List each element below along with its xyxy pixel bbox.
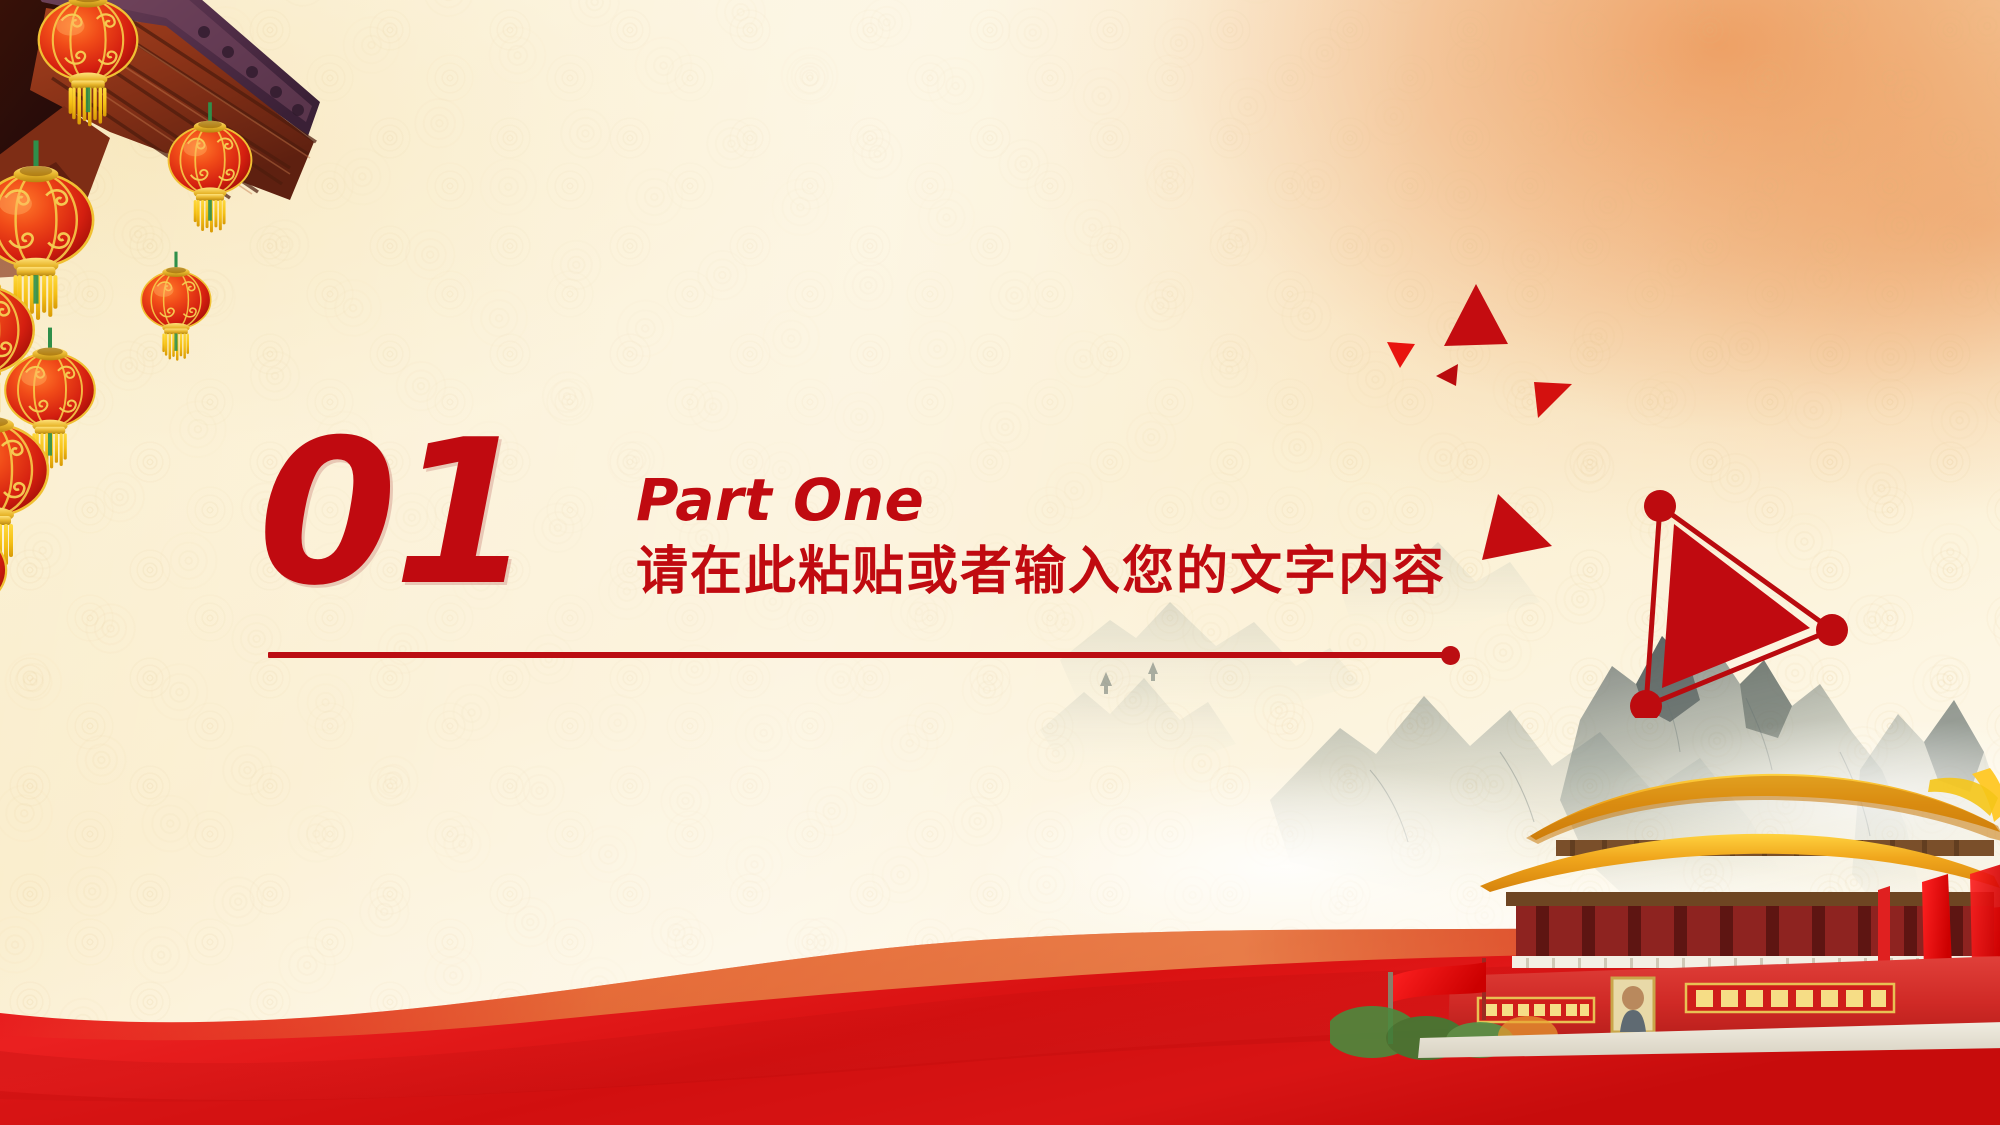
section-subtitle: 请在此粘贴或者输入您的文字内容	[636, 543, 1536, 601]
section-number: 01	[258, 414, 528, 614]
divider-end-dot	[1441, 646, 1460, 665]
section-heading-block: Part One 请在此粘贴或者输入您的文字内容	[636, 470, 1536, 601]
slide-content: 01 Part One 请在此粘贴或者输入您的文字内容	[0, 0, 2000, 1125]
section-eyebrow: Part One	[636, 470, 1536, 531]
section-divider	[268, 651, 1460, 659]
divider-bar	[268, 652, 1451, 658]
presentation-slide: 01 Part One 请在此粘贴或者输入您的文字内容	[0, 0, 2000, 1125]
